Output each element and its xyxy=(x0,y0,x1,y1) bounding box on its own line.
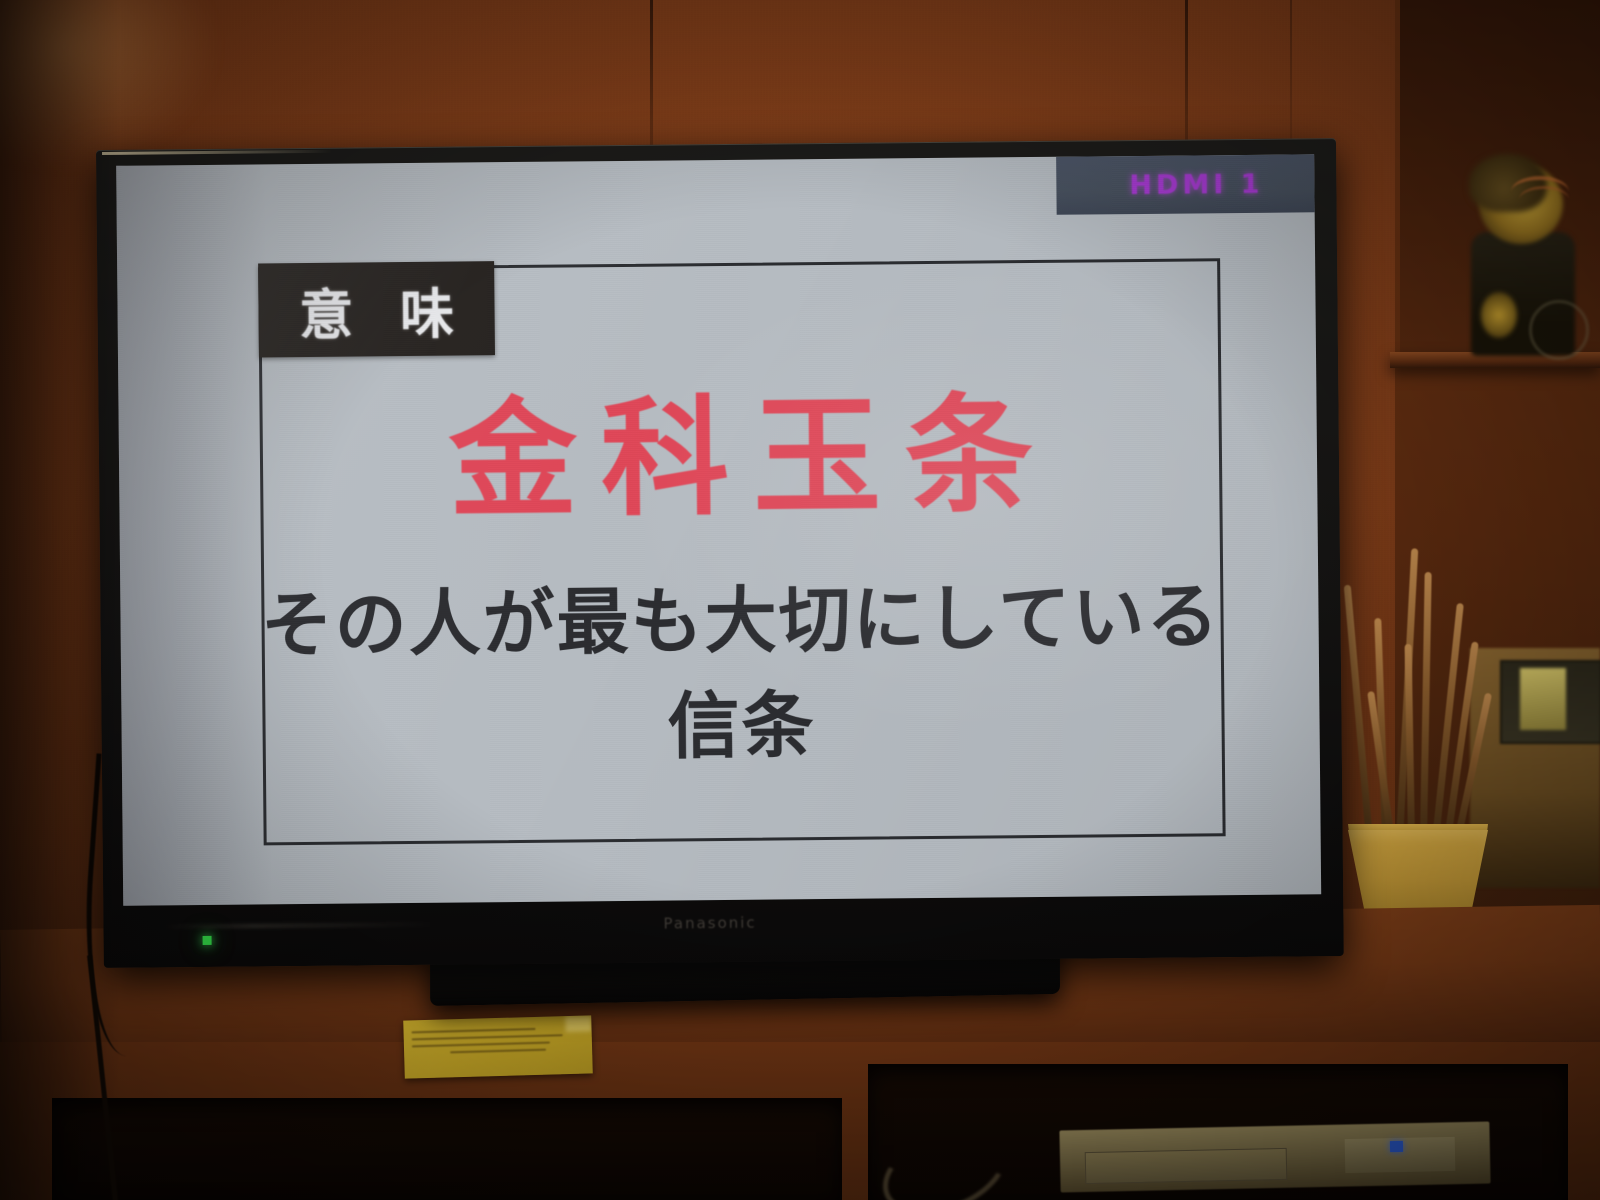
screen-shadow-left xyxy=(116,164,273,905)
dvd-player-led xyxy=(1390,1141,1403,1152)
tv-power-led xyxy=(203,936,212,945)
doll-figurine xyxy=(1455,160,1585,360)
wall-seam-far-right xyxy=(1290,0,1292,160)
slide-section-tag: 意 味 xyxy=(258,261,495,357)
sticky-note xyxy=(403,1015,593,1078)
tv-screen[interactable]: 意 味 金科玉条 その人が最も大切にしている信条 HDMI 1 xyxy=(116,154,1321,905)
sticky-note-line xyxy=(450,1049,546,1054)
television[interactable]: 意 味 金科玉条 その人が最も大切にしている信条 HDMI 1 Panasoni… xyxy=(96,138,1344,968)
wall-seam-left xyxy=(650,0,653,160)
sticky-note-line xyxy=(412,1034,563,1040)
figurine-ring xyxy=(1529,300,1589,360)
plant-stem xyxy=(1405,644,1415,840)
slide-section-tag-label: 意 味 xyxy=(285,269,469,350)
potted-reed-plant xyxy=(1348,548,1508,940)
plant-stem xyxy=(1420,572,1432,840)
room-photo: 意 味 金科玉条 その人が最も大切にしている信条 HDMI 1 Panasoni… xyxy=(0,0,1600,1200)
sticky-note-highlight xyxy=(565,1015,591,1032)
figurine-highlight xyxy=(1481,292,1517,338)
sticky-note-line xyxy=(412,1028,536,1033)
storage-box-label-inner xyxy=(1520,668,1566,730)
cabinet-opening-left xyxy=(52,1098,842,1200)
osd-input-banner: HDMI 1 xyxy=(1056,154,1321,214)
left-shadow xyxy=(0,0,120,1200)
plant-stem xyxy=(1344,585,1373,841)
slide-subtitle: その人が最も大切にしている信条 xyxy=(250,557,1232,776)
wall-seam-right xyxy=(1185,0,1188,160)
tv-brand-logo: Panasonic xyxy=(663,914,756,933)
dvd-player-tray[interactable] xyxy=(1085,1148,1288,1184)
sticky-note-line xyxy=(412,1042,550,1048)
slide-headline: 金科玉条 xyxy=(259,387,1222,531)
figurine-brow-inner xyxy=(1519,186,1569,213)
osd-input-label: HDMI 1 xyxy=(1129,168,1263,200)
